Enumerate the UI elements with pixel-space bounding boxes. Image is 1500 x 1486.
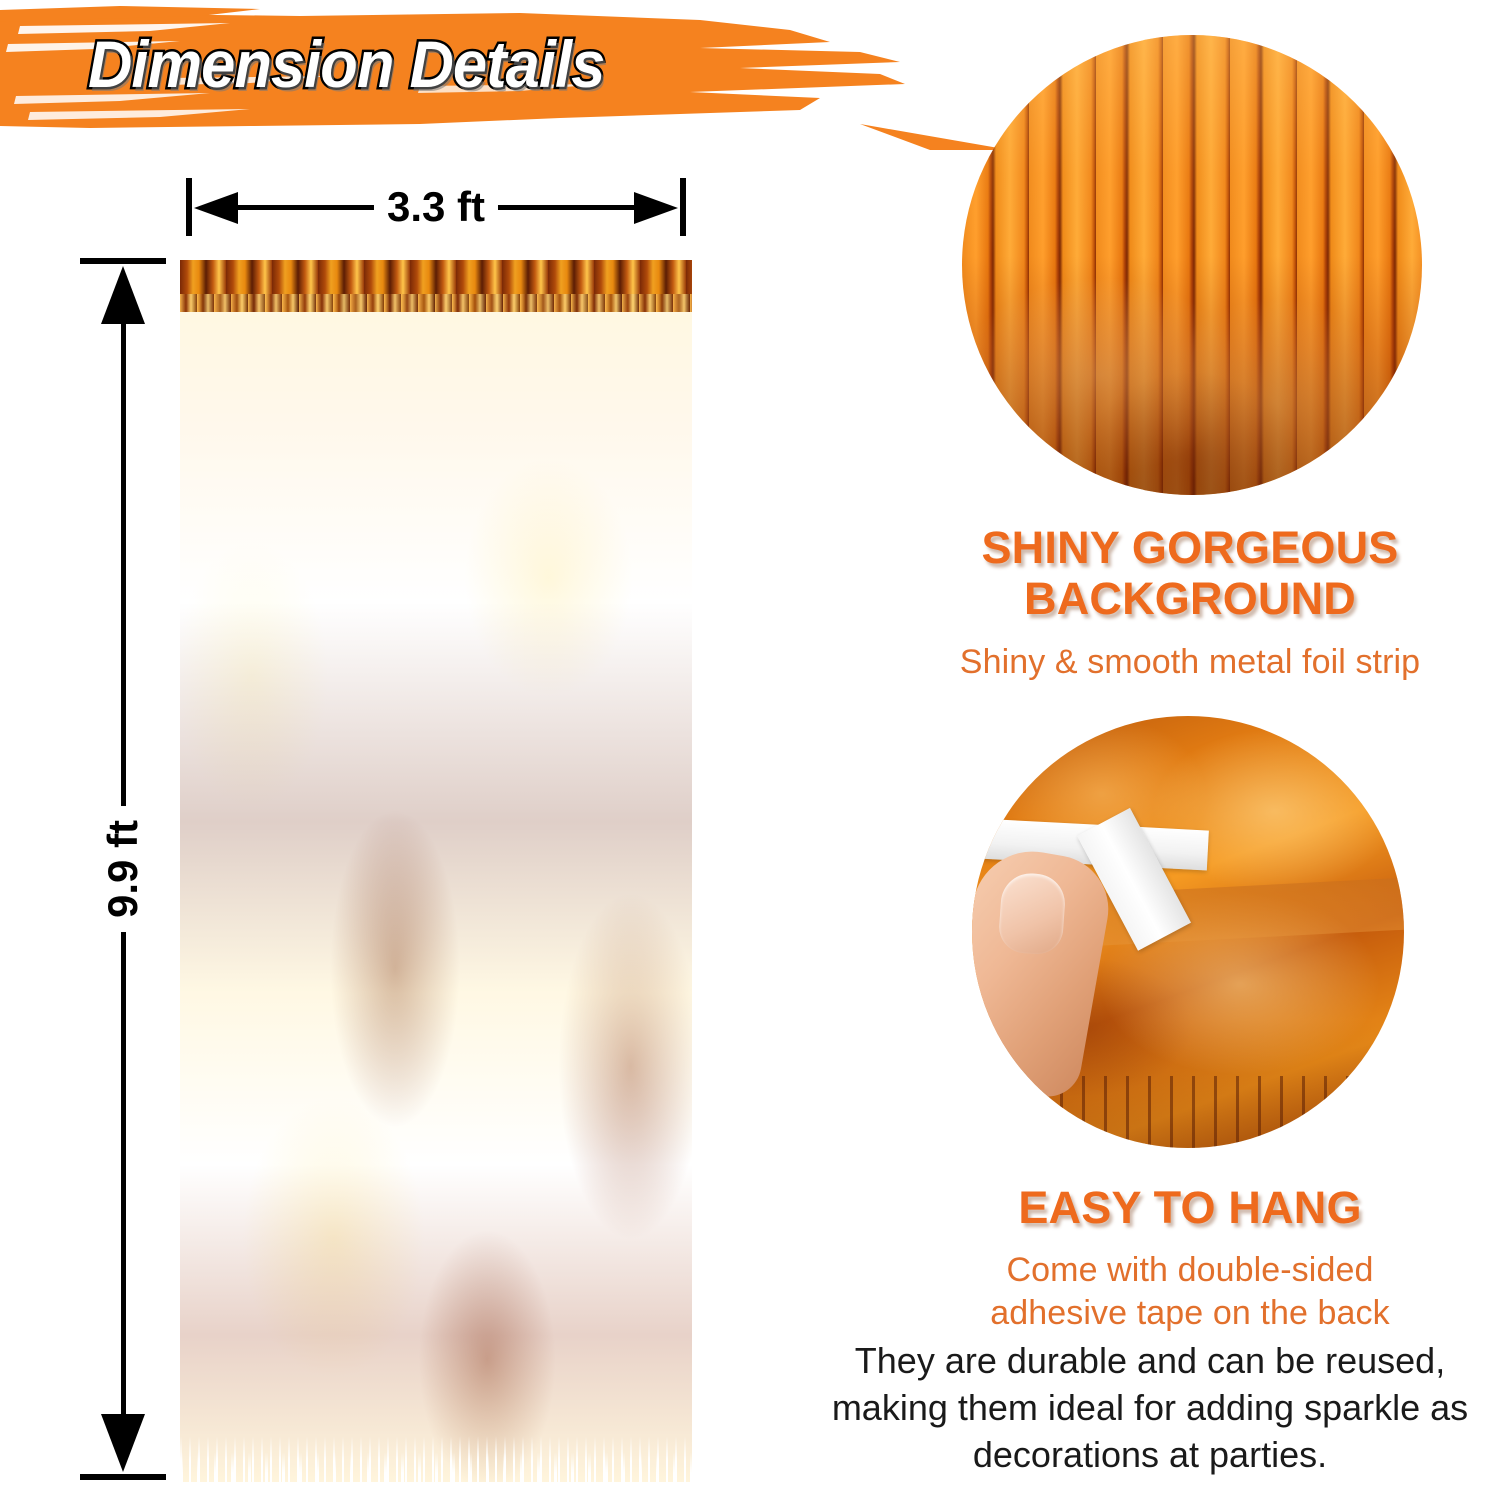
foil-gloss-overlay bbox=[962, 35, 1422, 495]
footer-description: They are durable and can be reused, maki… bbox=[820, 1338, 1480, 1478]
feature-hang-subtitle: Come with double-sided adhesive tape on … bbox=[890, 1249, 1490, 1335]
width-cap-left bbox=[186, 178, 192, 236]
feature-shiny-background: SHINY GORGEOUS BACKGROUND Shiny & smooth… bbox=[890, 522, 1490, 683]
width-line-right bbox=[496, 205, 656, 210]
feature-shiny-heading-line2: BACKGROUND bbox=[1024, 573, 1356, 624]
width-label: 3.3 ft bbox=[374, 182, 498, 232]
height-line-top bbox=[121, 290, 126, 830]
width-dimension: 3.3 ft bbox=[186, 178, 686, 236]
height-dimension: 9.9 ft bbox=[80, 258, 166, 1480]
width-line-left bbox=[216, 205, 376, 210]
foil-fringe-curtain-image bbox=[180, 260, 692, 1482]
width-arrowhead-right bbox=[634, 192, 678, 224]
feature-hang-subtitle-line2: adhesive tape on the back bbox=[990, 1294, 1389, 1332]
thumbnail-shape bbox=[997, 871, 1066, 955]
hand-holding-tape-photo bbox=[972, 716, 1404, 1148]
title-banner: Dimension Details bbox=[0, 0, 1010, 150]
feature-shiny-heading-line1: SHINY GORGEOUS bbox=[981, 522, 1398, 573]
footer-line-2: making them ideal for adding sparkle as bbox=[832, 1387, 1468, 1428]
feature-easy-to-hang: EASY TO HANG Come with double-sided adhe… bbox=[890, 1182, 1490, 1335]
feature-shiny-subtitle: Shiny & smooth metal foil strip bbox=[890, 641, 1490, 684]
height-arrowhead-top bbox=[101, 266, 145, 324]
feature-shiny-heading: SHINY GORGEOUS BACKGROUND bbox=[890, 522, 1490, 625]
curtain-fringe-edge-inner bbox=[180, 1452, 692, 1482]
curtain-header-band bbox=[180, 260, 692, 312]
feature-hang-subtitle-line1: Come with double-sided bbox=[1007, 1251, 1374, 1289]
foil-closeup-photo bbox=[962, 35, 1422, 495]
height-arrowhead-bottom bbox=[101, 1414, 145, 1472]
height-label: 9.9 ft bbox=[92, 806, 154, 932]
height-cap-top bbox=[80, 258, 166, 264]
page-title: Dimension Details bbox=[88, 26, 604, 102]
width-cap-right bbox=[680, 178, 686, 236]
footer-line-1: They are durable and can be reused, bbox=[855, 1340, 1445, 1381]
height-cap-bottom bbox=[80, 1474, 166, 1480]
foil-strips-sheen bbox=[180, 260, 692, 1482]
width-arrowhead-left bbox=[194, 192, 238, 224]
footer-line-3: decorations at parties. bbox=[973, 1434, 1327, 1475]
product-detail-page: Dimension Details 3.3 ft 9.9 ft bbox=[0, 0, 1500, 1486]
height-line-bottom bbox=[121, 908, 126, 1448]
feature-hang-heading: EASY TO HANG bbox=[890, 1182, 1490, 1233]
